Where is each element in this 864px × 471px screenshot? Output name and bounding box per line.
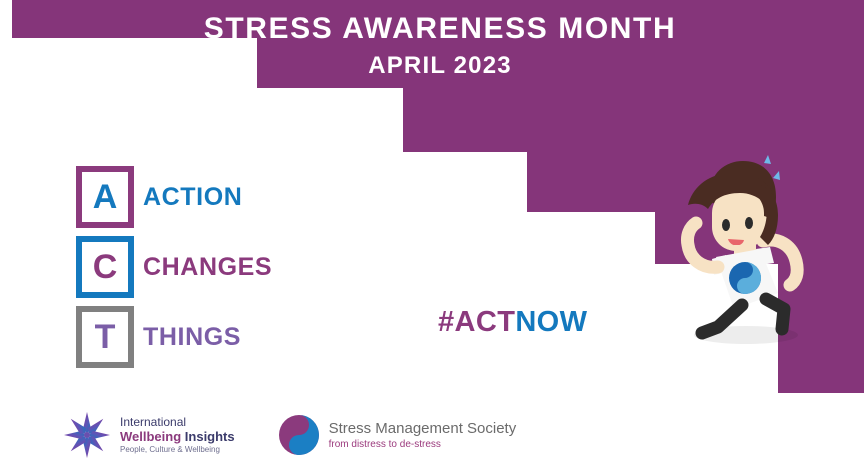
logo-stress-management-society: Stress Management Society from distress … (277, 413, 517, 457)
hashtag-act-part: #ACT (438, 306, 515, 338)
iwi-logo-text: International Wellbeing Insights People,… (120, 415, 235, 455)
sms-logo-text: Stress Management Society from distress … (329, 420, 517, 451)
sms-tagline: from distress to de-stress (329, 438, 517, 451)
eye-right (745, 217, 753, 229)
act-letter-box-c: C (76, 236, 134, 298)
eight-point-star-icon (62, 410, 112, 460)
eye-left (722, 219, 730, 231)
act-letter-box-a: A (76, 166, 134, 228)
act-row-action: A ACTION (76, 162, 272, 232)
act-acronym-list: A ACTION C CHANGES T THINGS (76, 162, 272, 372)
act-row-changes: C CHANGES (76, 232, 272, 302)
shirt-logo-icon (729, 262, 761, 294)
iwi-line-1: International (120, 415, 235, 429)
logo-international-wellbeing-insights: International Wellbeing Insights People,… (62, 410, 235, 460)
iwi-tagline: People, Culture & Wellbeing (120, 444, 235, 455)
footer-logos: International Wellbeing Insights People,… (62, 410, 516, 460)
iwi-insights-word: Insights (185, 429, 235, 444)
poster-canvas: STRESS AWARENESS MONTH APRIL 2023 A ACTI… (0, 0, 864, 471)
running-person-illustration (650, 145, 830, 350)
act-word-action: ACTION (143, 183, 242, 212)
hashtag-now-part: NOW (515, 306, 587, 338)
leg-front (766, 299, 784, 329)
act-letter-t: T (95, 320, 116, 354)
act-letter-a: A (93, 180, 118, 214)
act-word-things: THINGS (143, 323, 241, 352)
act-row-things: T THINGS (76, 302, 272, 372)
iwi-wellbeing-word: Wellbeing (120, 429, 181, 444)
act-letter-box-t: T (76, 306, 134, 368)
iwi-line-2: Wellbeing Insights (120, 429, 235, 444)
act-letter-c: C (93, 250, 118, 284)
yin-yang-circle-icon (277, 413, 321, 457)
sms-name: Stress Management Society (329, 420, 517, 438)
hashtag-actnow: #ACTNOW (438, 306, 587, 339)
act-word-changes: CHANGES (143, 253, 272, 282)
